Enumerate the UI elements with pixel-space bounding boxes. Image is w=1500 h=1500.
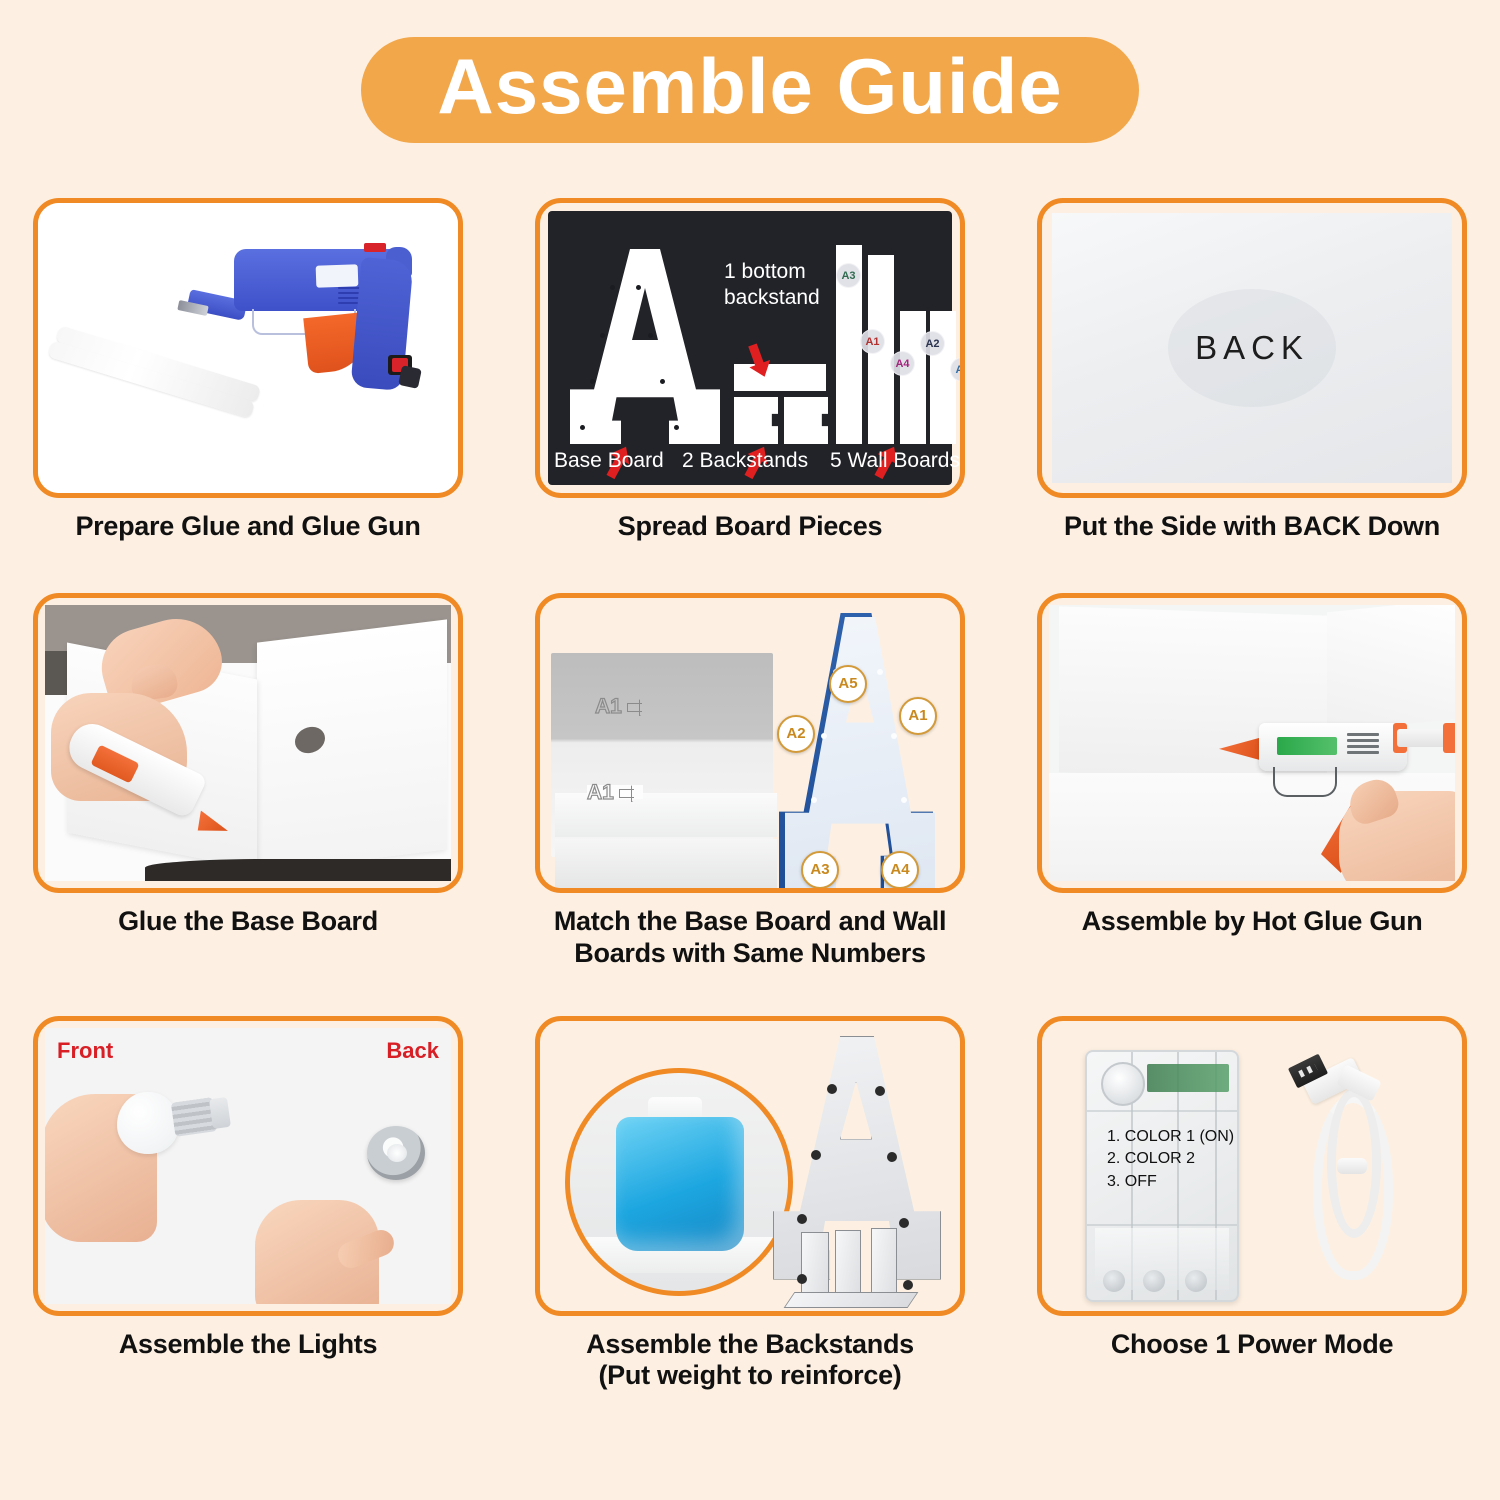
page-title: Assemble Guide: [437, 47, 1062, 125]
arrow-right-icon: [619, 786, 645, 799]
base-board-letter-a: [570, 249, 720, 444]
note-line-1: 1 bottom: [724, 259, 844, 285]
screw-hole: [674, 425, 679, 430]
letter-a-isometric: [767, 1034, 951, 1316]
header: Assemble Guide: [0, 0, 1500, 180]
step-8-image: [535, 1016, 965, 1316]
letter-a-3d: A5 A1 A2 A3 A4: [777, 613, 947, 893]
bulb-cap: [209, 1096, 231, 1128]
bulb-icon: [117, 1092, 179, 1154]
letter-badge-a2: A2: [777, 715, 815, 753]
glue-gun-vents-icon: [1347, 733, 1379, 755]
step-1-image: [33, 198, 463, 498]
white-board-right: [257, 619, 447, 872]
a1-mark-text: A1: [595, 695, 622, 719]
wall-badge-a2: A2: [920, 331, 945, 356]
steps-row-1: Prepare Glue and Glue Gun: [0, 198, 1500, 543]
battery-cell: [1185, 1270, 1207, 1292]
circuit-board: [1147, 1064, 1229, 1092]
glue-gun-clip: [1443, 723, 1455, 753]
backstand-piece: [734, 397, 778, 444]
led-hole: [797, 1274, 807, 1284]
step-7-image: Front Back: [33, 1016, 463, 1316]
bulb-front-photo: Front: [45, 1028, 251, 1304]
step-card-3[interactable]: BACK Put the Side with BACK Down: [1032, 198, 1472, 543]
step-card-2[interactable]: A3 A1 A4 A2 A5 1 bottom backstand Base B…: [530, 198, 970, 543]
a1-mark-text: A1: [587, 781, 614, 805]
led-hole: [875, 1086, 885, 1096]
glue-gun-wire: [1273, 767, 1337, 797]
back-board: BACK: [1052, 213, 1452, 483]
wall-board-a5: [960, 348, 965, 444]
step-card-9[interactable]: 1. COLOR 1 (ON) 2. COLOR 2 3. OFF Choose…: [1032, 1016, 1472, 1393]
letter-badge-a5: A5: [829, 665, 867, 703]
a1-mark-lower: A1: [587, 781, 645, 805]
match-boards-scene: A1 A1: [547, 605, 953, 881]
battery-hline: [1087, 1110, 1237, 1112]
led-hole: [827, 1084, 837, 1094]
screw-hole: [610, 285, 615, 290]
back-label: Back: [386, 1038, 439, 1064]
letter-badge-a4: A4: [881, 851, 919, 889]
step-card-4[interactable]: Glue the Base Board: [28, 593, 468, 970]
led-dot: [901, 797, 907, 803]
screw-hole: [660, 379, 665, 384]
board-closeup-photo: [551, 653, 773, 857]
screw-hole: [600, 333, 605, 338]
power-mode-2: 2. COLOR 2: [1107, 1148, 1234, 1171]
step-4-image: [33, 593, 463, 893]
step-7-caption: Assemble the Lights: [28, 1329, 468, 1361]
front-label: Front: [57, 1038, 113, 1064]
led-hole: [811, 1150, 821, 1160]
step-card-7[interactable]: Front Back Assemble the Lights: [28, 1016, 468, 1393]
title-banner: Assemble Guide: [361, 37, 1138, 143]
glue-base-board-scene: [45, 605, 451, 881]
arrow-right-icon: [627, 700, 653, 713]
letter-a-face: [785, 617, 935, 889]
step-8-caption-line-1: Assemble the Backstands: [530, 1329, 970, 1361]
battery-cell: [1143, 1270, 1165, 1292]
screw-hole: [580, 425, 585, 430]
led-dot: [877, 669, 883, 675]
wall-badge-a4: A4: [890, 351, 915, 376]
board-plate-lower: [555, 839, 777, 893]
a1-mark-upper: A1: [595, 695, 653, 719]
step-8-caption: Assemble the Backstands (Put weight to r…: [530, 1329, 970, 1393]
steps-row-3: Front Back Assemble the Lights: [0, 1016, 1500, 1393]
step-9-image: 1. COLOR 1 (ON) 2. COLOR 2 3. OFF: [1037, 1016, 1467, 1316]
note-line-2: backstand: [724, 285, 844, 311]
steps-grid: Prepare Glue and Glue Gun: [0, 180, 1500, 1392]
backstand-board: [871, 1228, 897, 1302]
led-dot: [811, 797, 817, 803]
led-hole: [797, 1214, 807, 1224]
step-4-caption: Glue the Base Board: [28, 906, 468, 938]
glue-gun-scene: [38, 203, 458, 493]
label-base-board: Base Board: [554, 449, 664, 473]
glue-gun-feed: [364, 243, 386, 252]
power-scene: 1. COLOR 1 (ON) 2. COLOR 2 3. OFF: [1049, 1028, 1455, 1304]
step-8-caption-line-2: (Put weight to reinforce): [530, 1360, 970, 1392]
led-dot: [891, 733, 897, 739]
power-mode-1: 1. COLOR 1 (ON): [1107, 1126, 1234, 1149]
usb-cable-tie: [1337, 1158, 1367, 1174]
power-switch-icon[interactable]: [1101, 1062, 1145, 1106]
bulb-back-photo: Back: [245, 1028, 451, 1304]
wall-badge-a1: A1: [860, 329, 885, 354]
step-card-6[interactable]: Assemble by Hot Glue Gun: [1032, 593, 1472, 970]
water-bag-closeup: [565, 1068, 793, 1296]
desk-edge: [145, 859, 451, 881]
backstand-top-piece: [734, 364, 826, 391]
wall-board-a4: [900, 311, 926, 444]
step-3-caption: Put the Side with BACK Down: [1032, 511, 1472, 543]
glue-gun-label: [1277, 737, 1337, 755]
battery-cell: [1103, 1270, 1125, 1292]
letter-badge-a3: A3: [801, 851, 839, 889]
step-5-caption-line-1: Match the Base Board and Wall: [530, 906, 970, 938]
label-wall-boards: 5 Wall Boards: [830, 449, 960, 473]
backstand-board: [801, 1232, 829, 1300]
glue-gun-label: [316, 264, 359, 287]
hot-glue-scene: [1049, 605, 1455, 881]
step-9-caption: Choose 1 Power Mode: [1032, 1329, 1472, 1361]
back-label: BACK: [1195, 329, 1309, 367]
led-hole: [887, 1152, 897, 1162]
step-3-image: BACK: [1037, 198, 1467, 498]
led-hole: [903, 1280, 913, 1290]
step-5-caption-line-2: Boards with Same Numbers: [530, 938, 970, 970]
step-2-caption: Spread Board Pieces: [530, 511, 970, 543]
steps-row-2: Glue the Base Board A1 A1: [0, 593, 1500, 970]
bulb-socket-icon: [367, 1126, 425, 1180]
step-6-caption: Assemble by Hot Glue Gun: [1032, 906, 1472, 938]
step-1-caption: Prepare Glue and Glue Gun: [28, 511, 468, 543]
screw-hole: [590, 379, 595, 384]
glue-gun-cord-cap: [398, 365, 422, 389]
glue-stick-icon: [1397, 729, 1447, 747]
usb-cable: [1283, 1054, 1433, 1294]
bottom-backstand-note: 1 bottom backstand: [724, 259, 844, 310]
led-hole: [899, 1218, 909, 1228]
step-5-image: A1 A1: [535, 593, 965, 893]
battery-hline: [1087, 1224, 1237, 1226]
step-2-image: A3 A1 A4 A2 A5 1 bottom backstand Base B…: [535, 198, 965, 498]
power-mode-list: 1. COLOR 1 (ON) 2. COLOR 2 3. OFF: [1107, 1126, 1234, 1194]
label-backstands: 2 Backstands: [682, 449, 808, 473]
board-pieces-diagram: A3 A1 A4 A2 A5 1 bottom backstand Base B…: [548, 211, 952, 485]
letter-badge-a1: A1: [899, 697, 937, 735]
power-mode-3: 3. OFF: [1107, 1171, 1234, 1194]
water-bag-weight-icon: [616, 1117, 744, 1251]
step-card-5[interactable]: A1 A1: [530, 593, 970, 970]
step-card-8[interactable]: Assemble the Backstands (Put weight to r…: [530, 1016, 970, 1393]
backstand-board: [835, 1230, 861, 1302]
screw-hole: [636, 285, 641, 290]
backstands-scene: [547, 1028, 953, 1304]
backstand-base: [784, 1292, 919, 1308]
board-right: [1327, 605, 1455, 732]
screw-hole: [648, 333, 653, 338]
led-dot: [821, 733, 827, 739]
back-marking-circle: BACK: [1168, 289, 1336, 407]
backstand-piece: [784, 397, 828, 444]
step-6-image: [1037, 593, 1467, 893]
step-card-1[interactable]: Prepare Glue and Glue Gun: [28, 198, 468, 543]
step-5-caption: Match the Base Board and Wall Boards wit…: [530, 906, 970, 970]
